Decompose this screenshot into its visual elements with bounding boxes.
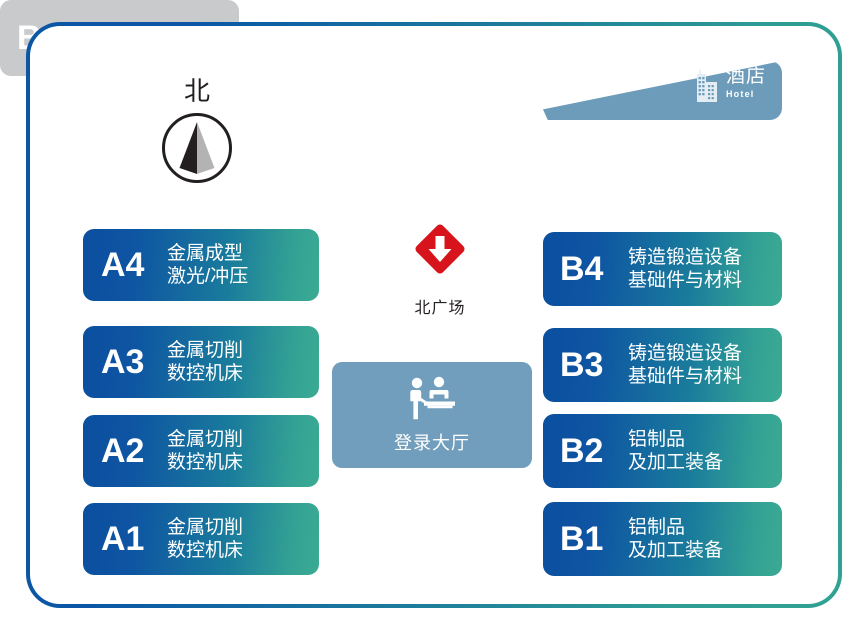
- hall-code-a1: A1: [101, 522, 167, 556]
- hall-desc-a2: 金属切削 数控机床: [167, 428, 243, 475]
- registration-hall-block[interactable]: 登录大厅: [332, 362, 532, 468]
- hotel-label-group: 酒店 Hotel: [693, 67, 766, 108]
- hall-code-b1: B1: [560, 522, 628, 556]
- hotel-block[interactable]: 酒店 Hotel: [543, 61, 782, 120]
- compass: 北: [152, 78, 242, 190]
- hall-block-b4[interactable]: B4 铸造锻造设备 基础件与材料: [543, 232, 782, 306]
- hall-desc-a4: 金属成型 激光/冲压: [167, 242, 248, 289]
- exhibition-floor-map: 北 北广场: [0, 0, 868, 627]
- compass-label: 北: [184, 78, 210, 104]
- hotel-text-group: 酒店 Hotel: [726, 67, 766, 99]
- hotel-name-en: Hotel: [726, 90, 766, 99]
- hotel-name-cn: 酒店: [726, 67, 766, 86]
- hall-block-b3[interactable]: B3 铸造锻造设备 基础件与材料: [543, 328, 782, 402]
- hall-code-a3: A3: [101, 345, 167, 379]
- hall-block-a4[interactable]: A4 金属成型 激光/冲压: [83, 229, 319, 301]
- hall-block-b2[interactable]: B2 铝制品 及加工装备: [543, 414, 782, 488]
- hall-desc-b3: 铸造锻造设备 基础件与材料: [628, 342, 742, 389]
- hotel-building-icon: [693, 69, 721, 108]
- north-plaza-label: 北广场: [414, 294, 465, 318]
- hall-block-a1[interactable]: A1 金属切削 数控机床: [83, 503, 319, 575]
- registration-desk-icon: [403, 376, 461, 427]
- hall-code-b2: B2: [560, 434, 628, 468]
- hall-code-b4: B4: [560, 252, 628, 286]
- registration-hall-label: 登录大厅: [394, 429, 470, 455]
- hall-desc-b2: 铝制品 及加工装备: [628, 428, 723, 475]
- hall-block-a3[interactable]: A3 金属切削 数控机床: [83, 326, 319, 398]
- hall-desc-b4: 铸造锻造设备 基础件与材料: [628, 246, 742, 293]
- hall-desc-a3: 金属切削 数控机床: [167, 339, 243, 386]
- hall-desc-a1: 金属切削 数控机床: [167, 516, 243, 563]
- hall-block-b1[interactable]: B1 铝制品 及加工装备: [543, 502, 782, 576]
- hall-desc-b1: 铝制品 及加工装备: [628, 516, 723, 563]
- north-plaza-marker: 北广场: [387, 220, 493, 318]
- compass-north-arrow-icon: [160, 111, 234, 190]
- hall-code-a2: A2: [101, 434, 167, 468]
- red-diamond-down-arrow-icon: [411, 220, 469, 283]
- hall-code-a4: A4: [101, 248, 167, 282]
- hall-block-a2[interactable]: A2 金属切削 数控机床: [83, 415, 319, 487]
- hall-code-b3: B3: [560, 348, 628, 382]
